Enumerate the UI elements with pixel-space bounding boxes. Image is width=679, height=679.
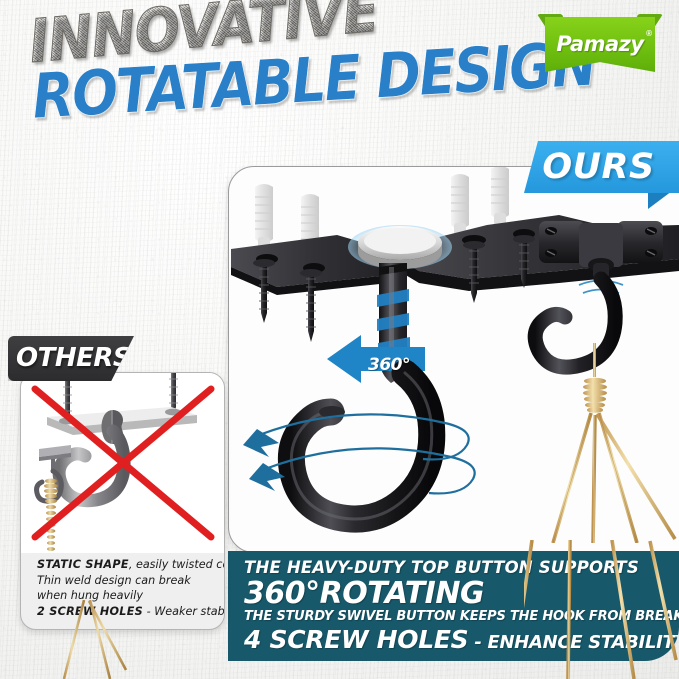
others-product-illustration [21,373,224,553]
registered-trademark-icon: ® [646,29,652,38]
others-rope-lower [58,600,178,679]
ours-product-panel [228,166,679,553]
secondary-hook [535,279,615,367]
infographic-canvas: INNOVATIVE ROTATABLE DESIGN Pamazy ® [0,0,679,679]
ours-caption-line2: 360°ROTATING [244,576,484,611]
others-caption-line2: Thin weld design can break [37,573,225,589]
headline-block: INNOVATIVE ROTATABLE DESIGN [14,6,574,136]
ours-badge-label: OURS [524,147,673,187]
ours-caption-line4-strong: 4 SCREW HOLES [244,625,468,654]
ours-badge: OURS [524,141,679,193]
others-comparison-panel: STATIC SHAPE, easily twisted cord Thin w… [20,372,225,630]
secondary-mount-plate [539,221,663,279]
others-caption-line1: STATIC SHAPE, easily twisted cord [37,557,225,573]
others-caption-line1-rest: , easily twisted cord [129,558,225,571]
swivel-button [348,225,452,269]
others-badge-label: OTHERS [16,343,131,373]
others-caption-line1-strong: STATIC SHAPE [37,558,129,571]
logo-wordmark: Pamazy [536,32,664,56]
rope-lower-strands [524,540,679,679]
brand-logo: Pamazy ® [536,14,664,76]
secondary-hook-illustration [525,213,679,543]
main-hook [291,373,431,519]
rotation-degree-label: 360° [368,355,410,375]
